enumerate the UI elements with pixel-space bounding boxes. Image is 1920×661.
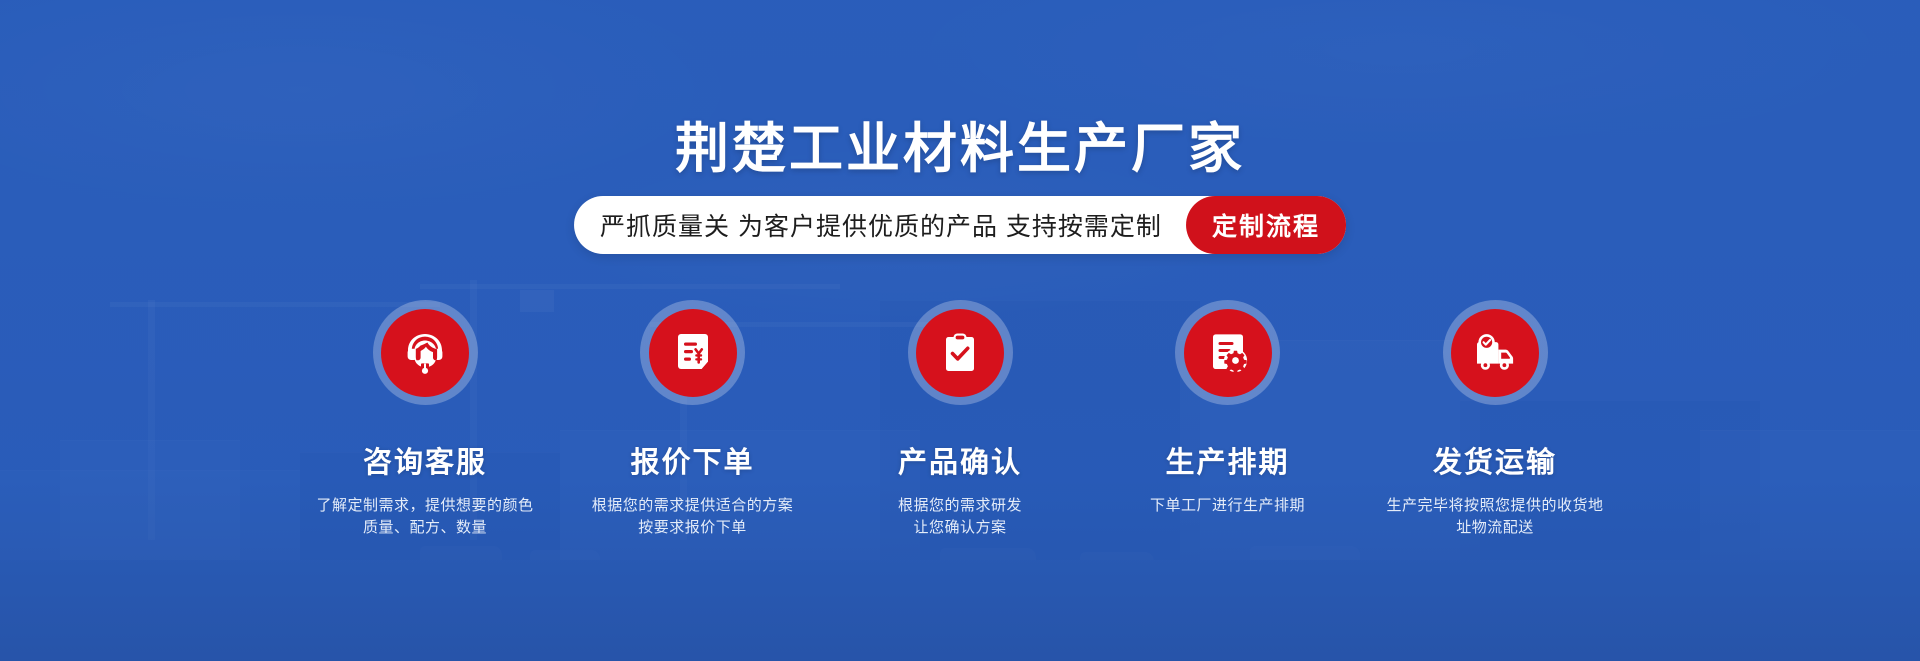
step-icon-ring[interactable] <box>373 300 478 405</box>
step-desc-line1: 了解定制需求，提供想要的颜色 <box>316 497 533 514</box>
step-desc-line2: 质量、配方、数量 <box>363 519 487 536</box>
step-item-confirm: 产品确认 根据您的需求研发 让您确认方案 <box>830 300 1090 539</box>
process-steps: 咨询客服 了解定制需求，提供想要的颜色 质量、配方、数量 <box>295 300 1625 539</box>
step-desc-line1: 根据您的需求提供适合的方案 <box>592 497 794 514</box>
banner-content: 荆楚工业材料生产厂家 严抓质量关 为客户提供优质的产品 支持按需定制 定制流程 <box>0 0 1920 661</box>
step-title: 发货运输 <box>1433 439 1557 481</box>
step-title: 产品确认 <box>898 439 1022 481</box>
step-icon-disc <box>1184 309 1272 397</box>
step-icon-disc <box>916 309 1004 397</box>
step-icon-ring[interactable] <box>1175 300 1280 405</box>
document-gear-icon <box>1204 329 1252 377</box>
step-icon-disc <box>381 309 469 397</box>
step-icon-ring[interactable] <box>640 300 745 405</box>
step-description: 根据您的需求研发 让您确认方案 <box>898 495 1022 539</box>
step-icon-ring[interactable] <box>908 300 1013 405</box>
step-desc-line2: 按要求报价下单 <box>638 519 747 536</box>
clipboard-check-icon <box>936 329 984 377</box>
quote-invoice-yuan-icon <box>669 329 717 377</box>
step-title: 咨询客服 <box>363 439 487 481</box>
step-description: 下单工厂进行生产排期 <box>1150 495 1305 517</box>
step-desc-line2: 让您确认方案 <box>913 519 1006 536</box>
slogan-pill: 严抓质量关 为客户提供优质的产品 支持按需定制 定制流程 <box>574 196 1346 254</box>
step-title: 报价下单 <box>630 439 754 481</box>
step-title: 生产排期 <box>1165 439 1289 481</box>
step-item-quote: 报价下单 根据您的需求提供适合的方案 按要求报价下单 <box>563 300 823 539</box>
step-description: 根据您的需求提供适合的方案 按要求报价下单 <box>592 495 794 539</box>
step-item-consult: 咨询客服 了解定制需求，提供想要的颜色 质量、配方、数量 <box>295 300 555 539</box>
step-icon-ring[interactable] <box>1443 300 1548 405</box>
delivery-truck-check-icon <box>1469 327 1521 379</box>
step-desc-line2: 址物流配送 <box>1456 519 1534 536</box>
step-desc-line1: 下单工厂进行生产排期 <box>1150 497 1305 514</box>
page-title: 荆楚工业材料生产厂家 <box>0 104 1920 183</box>
step-icon-disc <box>1451 309 1539 397</box>
step-item-shipping: 发货运输 生产完毕将按照您提供的收货地 址物流配送 <box>1365 300 1625 539</box>
step-item-schedule: 生产排期 下单工厂进行生产排期 <box>1098 300 1358 539</box>
step-desc-line1: 生产完毕将按照您提供的收货地 <box>1386 497 1603 514</box>
custom-process-button[interactable]: 定制流程 <box>1186 196 1346 254</box>
step-description: 生产完毕将按照您提供的收货地 址物流配送 <box>1386 495 1603 539</box>
headset-support-icon <box>399 327 451 379</box>
step-description: 了解定制需求，提供想要的颜色 质量、配方、数量 <box>316 495 533 539</box>
step-icon-disc <box>649 309 737 397</box>
step-desc-line1: 根据您的需求研发 <box>898 497 1022 514</box>
slogan-text: 严抓质量关 为客户提供优质的产品 支持按需定制 <box>600 207 1186 243</box>
promo-banner: 荆楚工业材料生产厂家 严抓质量关 为客户提供优质的产品 支持按需定制 定制流程 <box>0 0 1920 661</box>
